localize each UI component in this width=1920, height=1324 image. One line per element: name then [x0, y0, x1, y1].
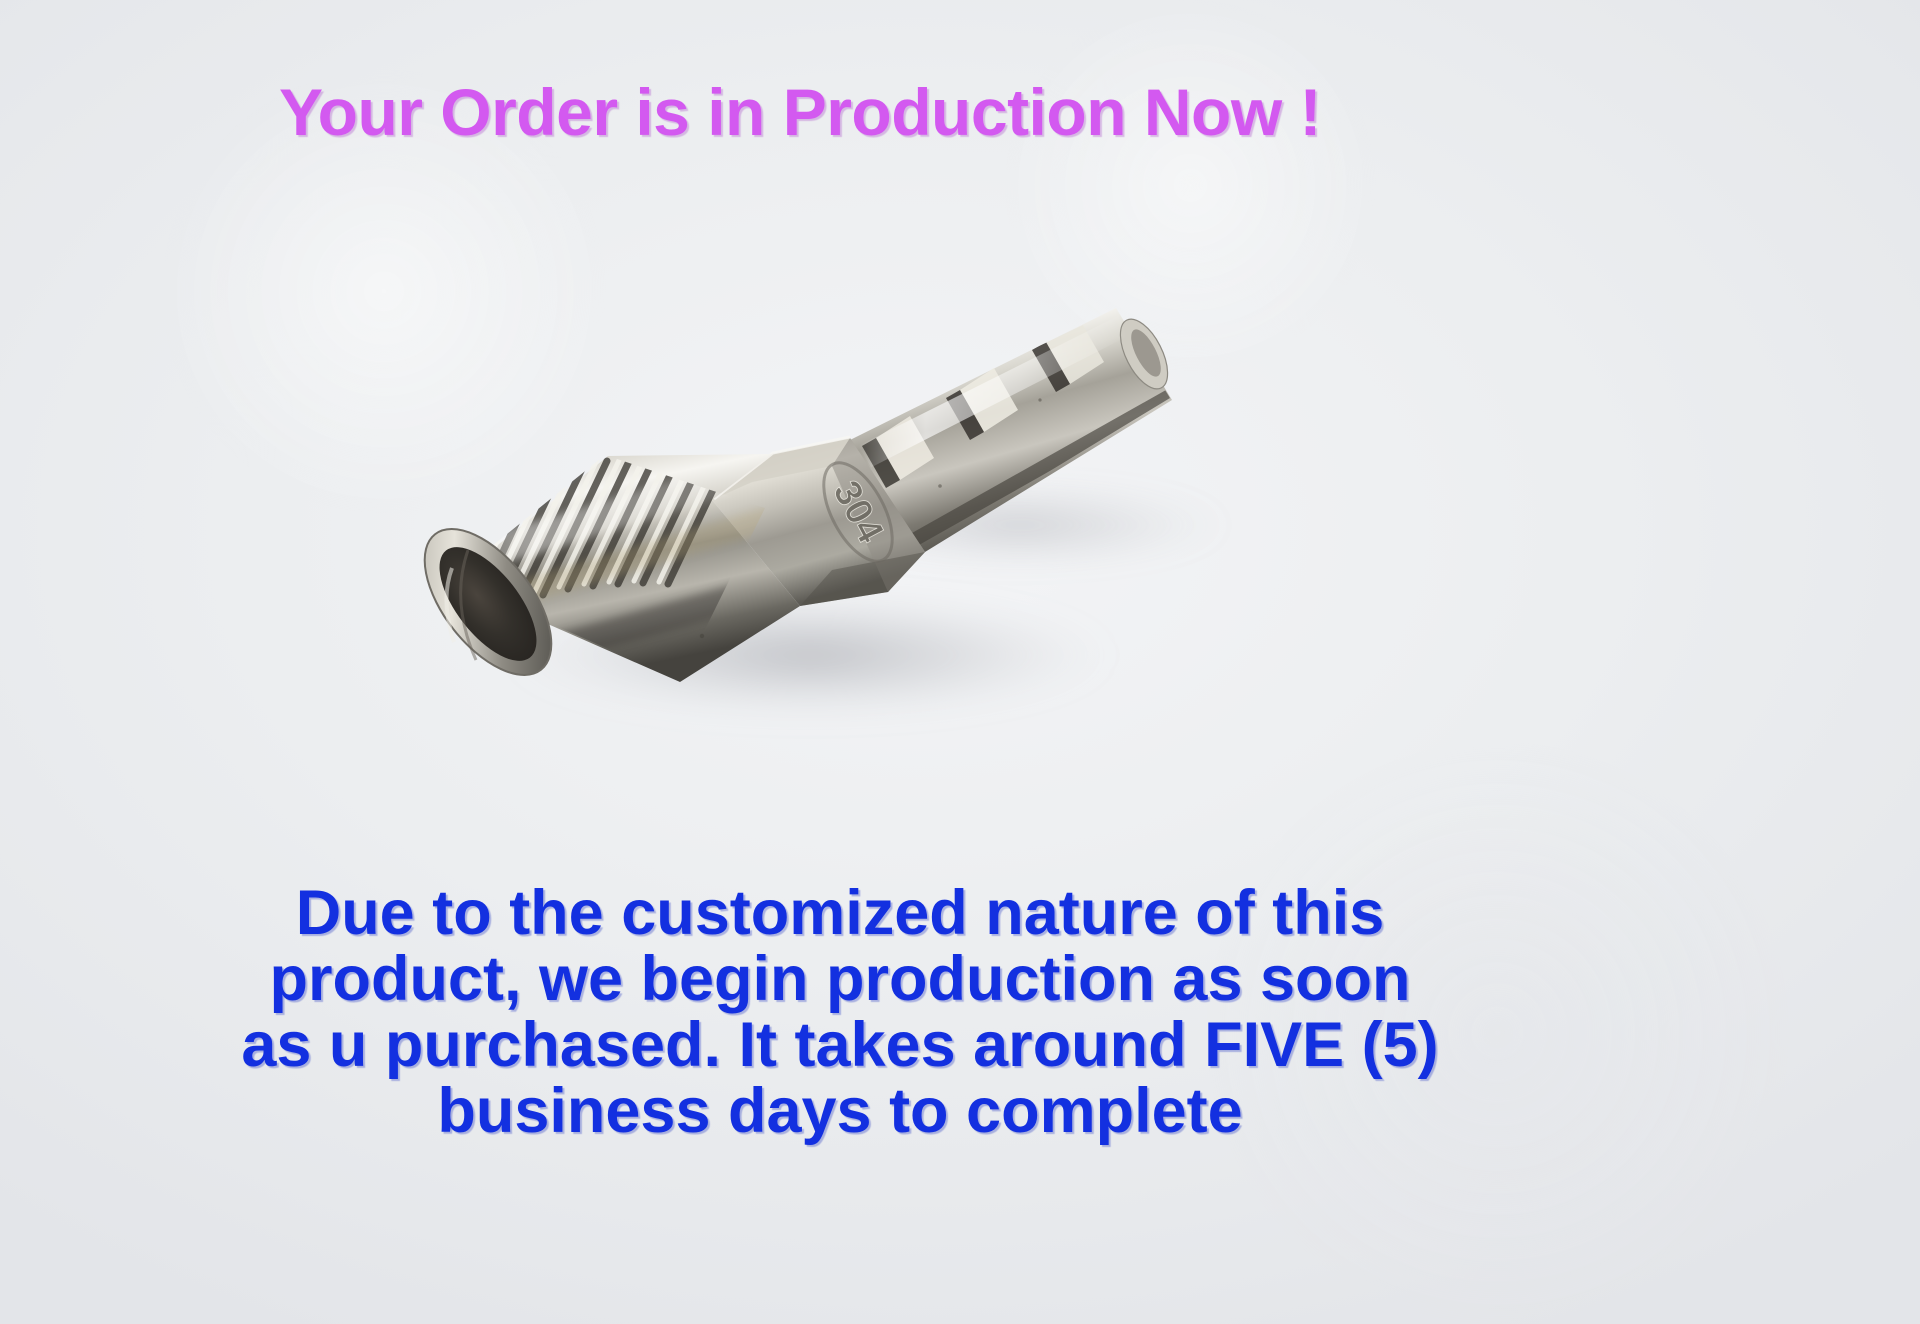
body-line-4: business days to complete	[60, 1078, 1620, 1144]
body-line-2: product, we begin production as soon	[60, 946, 1620, 1012]
promo-image-canvas: Your Order is in Production Now !	[0, 0, 1920, 1324]
body-line-3: as u purchased. It takes around FIVE (5)	[60, 1012, 1620, 1078]
product-image: 304	[380, 250, 1380, 770]
body-copy: Due to the customized nature of this pro…	[60, 880, 1620, 1145]
page-title: Your Order is in Production Now !	[0, 74, 1600, 150]
body-line-1: Due to the customized nature of this	[60, 880, 1620, 946]
